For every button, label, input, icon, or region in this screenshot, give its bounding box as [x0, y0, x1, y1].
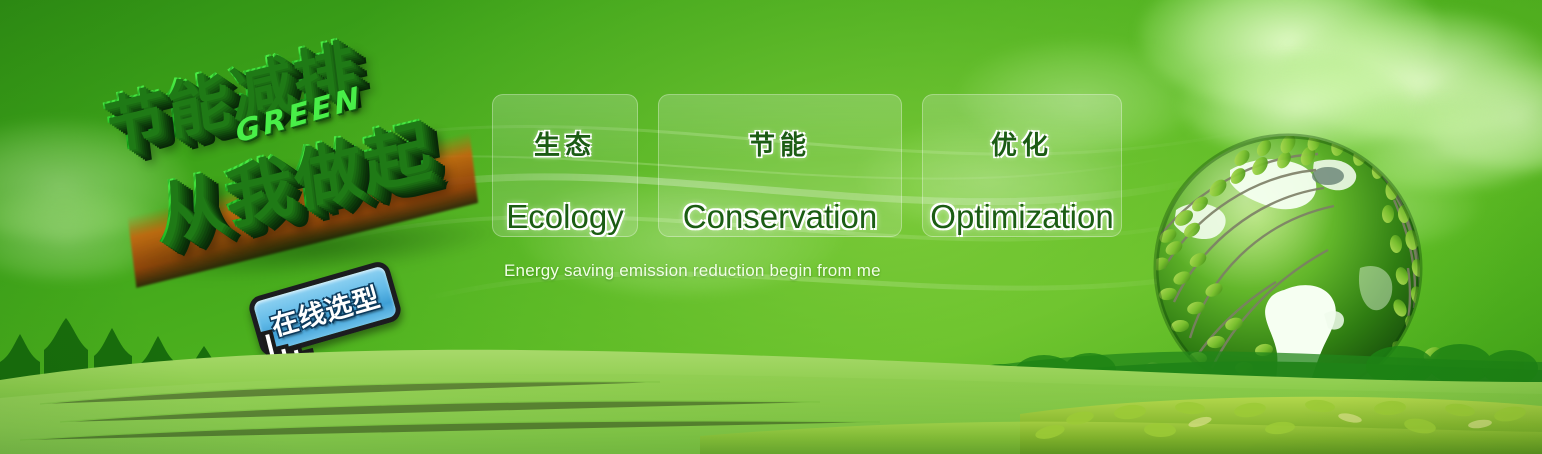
feature-card-cn-label: 生态	[534, 125, 596, 162]
feature-card-ecology[interactable]: 生态 Ecology	[492, 94, 638, 237]
feature-card-conservation[interactable]: 节能 Conservation	[658, 94, 902, 237]
feature-card-en-label: Conservation	[683, 198, 877, 236]
banner-tagline: Energy saving emission reduction begin f…	[504, 261, 881, 281]
feature-card-en-label: Optimization	[930, 198, 1113, 236]
cloud-icon	[1140, 0, 1440, 110]
feature-card-optimization[interactable]: 优化 Optimization	[922, 94, 1122, 237]
headline-3d-art: 节能减排 GREEN 从我做起	[88, 17, 507, 291]
feature-card-cn-label: 优化	[991, 125, 1053, 162]
feature-card-cn-label: 节能	[749, 125, 811, 162]
leaf-ground-bed	[0, 374, 1542, 454]
feature-card-en-label: Ecology	[506, 198, 623, 236]
green-energy-banner: 节能减排 GREEN 从我做起 在线选型 生态 Ecology 节能 Conse…	[0, 0, 1542, 454]
feature-cards: 生态 Ecology 节能 Conservation 优化 Optimizati…	[492, 94, 1122, 237]
